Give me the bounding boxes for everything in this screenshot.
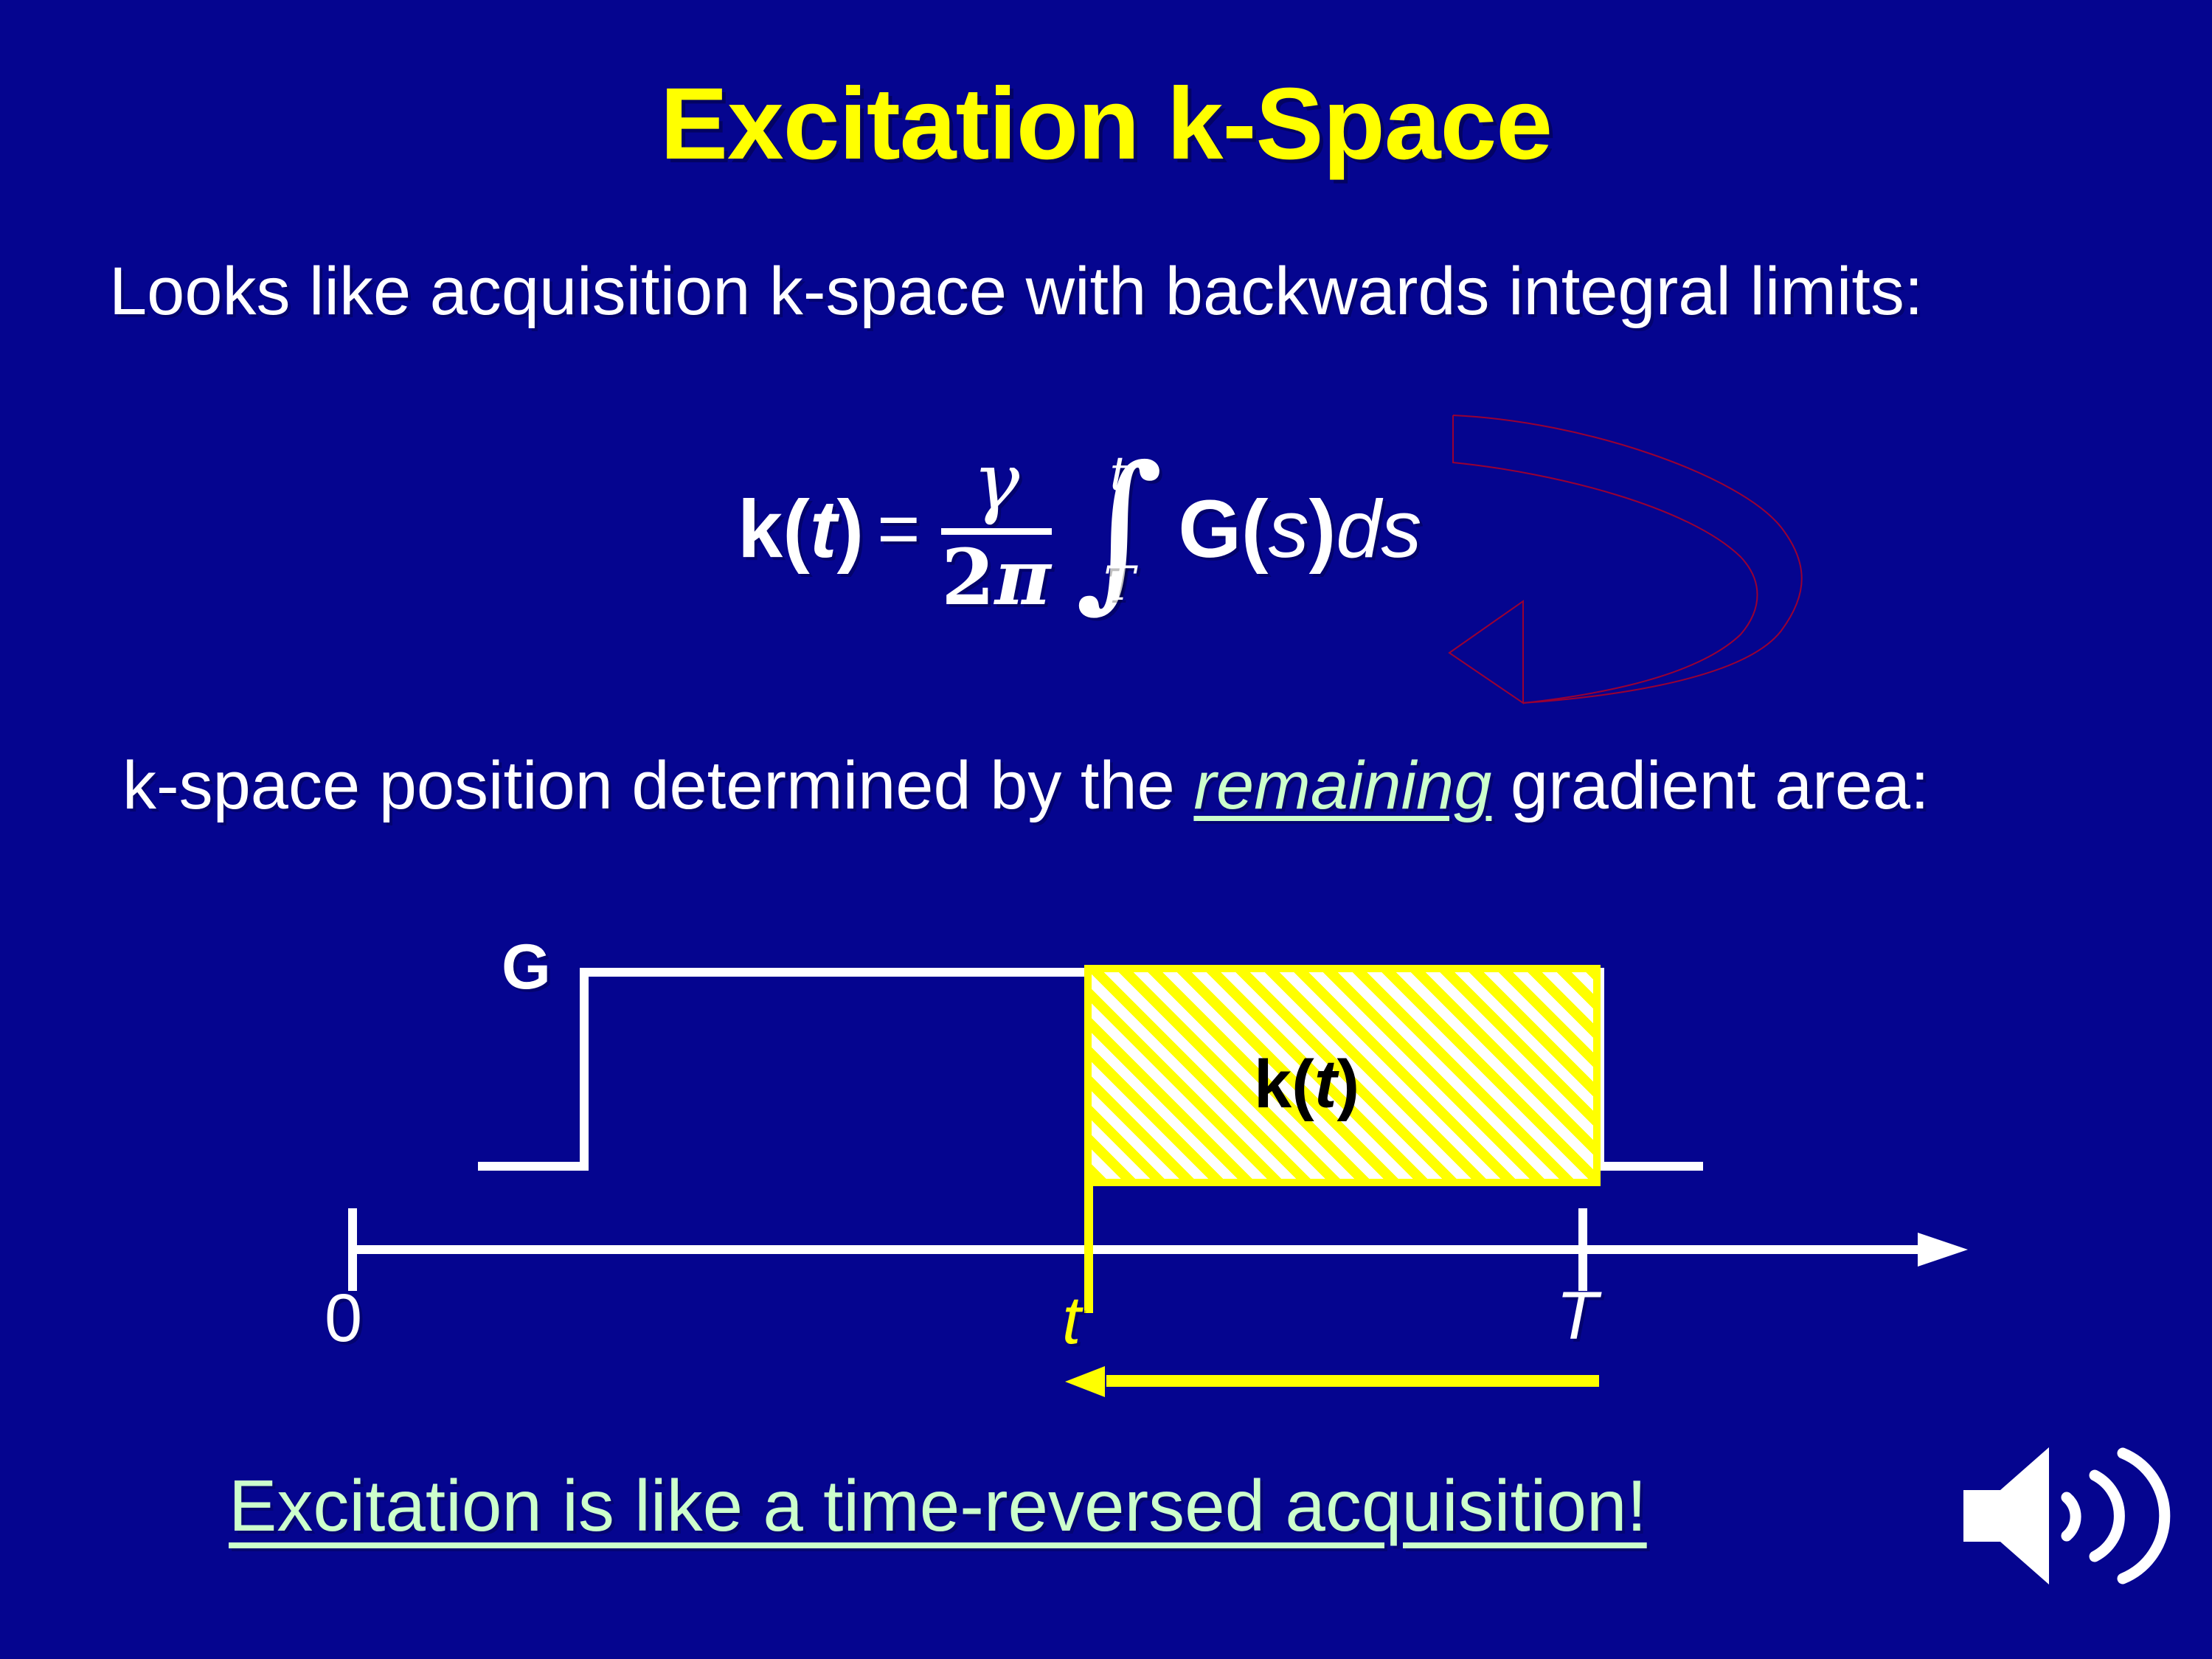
time-reversal-uturn-arrow — [1446, 409, 1829, 704]
remaining-area-label: k(t) — [1254, 1046, 1359, 1123]
kspace-equation: k(t) = γ 2π t ∫ T G(s)ds — [738, 443, 1421, 616]
equation-equals: = — [864, 487, 936, 572]
time-axis-arrowhead — [1918, 1227, 1969, 1272]
equation-denominator: 2π — [941, 539, 1051, 616]
axis-label-T: T — [1556, 1278, 1598, 1355]
waveform-tail-segment — [1595, 1162, 1703, 1171]
t-marker-line — [1084, 1179, 1093, 1313]
equation-lhs-k: k — [738, 484, 783, 575]
equation-integral: t ∫ T — [1056, 451, 1173, 608]
waveform-prelobe-segment — [478, 1162, 587, 1171]
statement-emphasis-remaining: remaining — [1193, 748, 1491, 823]
conclusion-text: Excitation is like a time-reversed acqui… — [229, 1464, 1647, 1548]
equation-integrand: G(s)ds — [1172, 482, 1421, 576]
integrand-differential: ds — [1336, 484, 1421, 575]
waveform-rising-edge — [580, 968, 589, 1171]
equation-denominator-pi: π — [995, 532, 1051, 623]
integral-lower-limit: T — [1103, 561, 1135, 608]
equation-lhs: k(t) — [738, 482, 864, 576]
equation-fraction: γ 2π — [937, 443, 1056, 616]
integrand-G: G — [1178, 484, 1241, 575]
axis-label-t: t — [1062, 1282, 1081, 1360]
speaker-sound-icon[interactable] — [1955, 1444, 2198, 1588]
equation-numerator-gamma: γ — [973, 443, 1019, 525]
statement-text: k-space position determined by the remai… — [122, 749, 1930, 823]
integrand-open: ( — [1241, 484, 1269, 575]
axis-label-origin: 0 — [325, 1280, 362, 1357]
statement-prefix: k-space position determined by the — [122, 748, 1193, 823]
slide-canvas: Excitation k-Space Looks like acquisitio… — [0, 0, 2212, 1659]
region-label-close: ) — [1336, 1047, 1359, 1122]
equation-lhs-open: ( — [783, 484, 810, 575]
integrand-var-s: s — [1269, 484, 1309, 575]
equation-lhs-close: ) — [836, 484, 864, 575]
reverse-time-arrow — [1062, 1363, 1608, 1403]
gradient-amplitude-label: G — [502, 931, 551, 1004]
time-axis-line — [353, 1245, 1938, 1254]
region-label-open: ( — [1292, 1047, 1314, 1122]
intro-text: Looks like acquisition k-space with back… — [109, 254, 1923, 329]
page-title: Excitation k-Space — [0, 71, 2212, 178]
tick-origin — [348, 1208, 357, 1291]
region-label-k: k — [1254, 1047, 1292, 1122]
region-label-var: t — [1314, 1047, 1337, 1122]
statement-suffix: gradient area: — [1491, 748, 1929, 823]
equation-row: k(t) = γ 2π t ∫ T G(s)ds — [738, 443, 1421, 616]
equation-lhs-var: t — [810, 484, 837, 575]
integrand-close: ) — [1309, 484, 1336, 575]
waveform-plateau-segment — [580, 968, 1092, 977]
equation-denominator-2: 2 — [941, 532, 994, 623]
